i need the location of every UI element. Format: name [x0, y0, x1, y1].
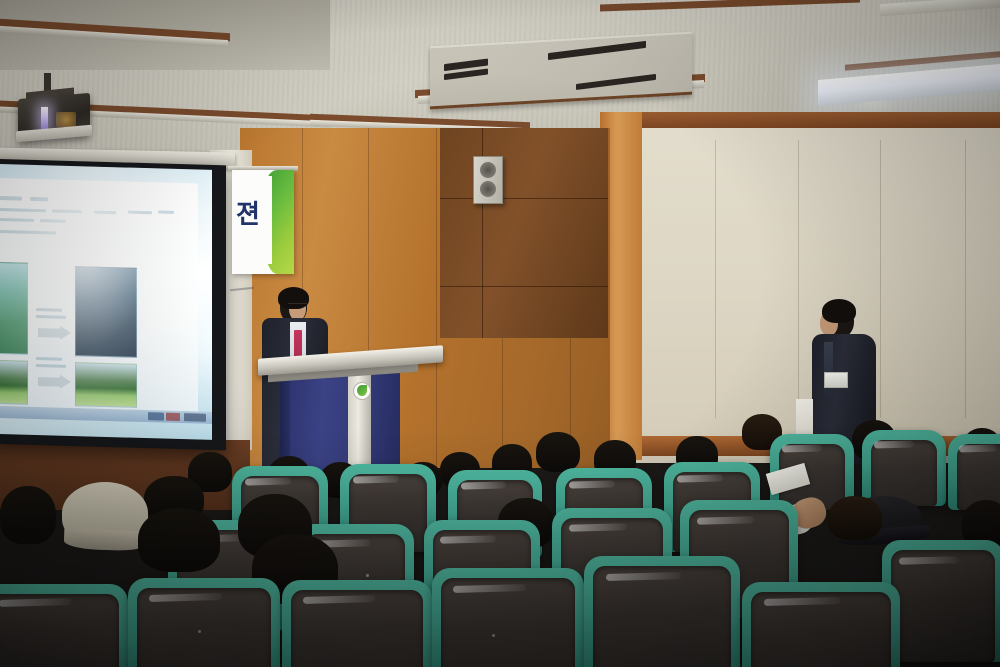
beige-cap-brim: [64, 529, 149, 552]
speaker-cone-lower: [480, 181, 496, 197]
dark-wood-panel: [440, 128, 608, 338]
leaf-icon: [357, 385, 367, 396]
seat-gloss: [440, 535, 496, 543]
glasses-icon: [288, 303, 307, 309]
slide-text-line: [0, 196, 22, 201]
audience-head: [0, 486, 56, 544]
auditorium-seat[interactable]: [742, 582, 900, 667]
taskbar-clock: [184, 413, 206, 422]
slide-text-line: [94, 211, 116, 215]
taskbar-item[interactable]: [166, 413, 180, 421]
seat-gloss: [245, 477, 291, 485]
auditorium-seat[interactable]: [282, 580, 432, 667]
wall-panel-seam: [798, 140, 799, 418]
wood-panel-seam: [436, 128, 437, 468]
audience-head: [536, 432, 580, 472]
slide-image-field-left: [0, 360, 28, 405]
name-badge: [824, 372, 848, 388]
projection-screen: [0, 159, 226, 451]
podium-body: [290, 372, 400, 474]
auditorium-seat[interactable]: [948, 434, 1000, 510]
seat-gloss: [959, 444, 998, 452]
slide-image-aerial-dark: [75, 266, 137, 358]
seat-speck: [492, 634, 495, 637]
seat-speck: [198, 630, 201, 633]
projection-screen-surface: [0, 164, 212, 440]
seat-gloss: [782, 444, 822, 452]
seat-speck: [366, 574, 369, 577]
seat-back-cushion: [891, 550, 995, 662]
slide-image-field-right: [75, 362, 137, 408]
audience-head: [138, 508, 220, 572]
wall-top-trim-right: [620, 112, 1000, 128]
projector-vent: [56, 112, 76, 127]
wall-panel-seam: [715, 140, 716, 418]
auditorium-seat[interactable]: [862, 430, 946, 506]
seat-back-cushion: [593, 566, 731, 667]
seat-gloss: [677, 474, 723, 482]
seat-gloss: [569, 480, 615, 488]
auditorium-seat[interactable]: [432, 568, 584, 667]
ac-slot-left-2: [444, 69, 488, 81]
seat-gloss: [874, 440, 914, 448]
dark-panel-grid-line: [440, 198, 608, 199]
slide-image-aerial-green: [0, 262, 28, 355]
auditorium-seat[interactable]: [0, 584, 128, 667]
ac-slot-right: [548, 41, 646, 60]
banner-text: 젼: [236, 202, 260, 228]
taskbar-item[interactable]: [148, 412, 164, 420]
speaker-cone-upper: [480, 162, 496, 178]
presentation-slide: [0, 164, 212, 440]
slide-text-line: [158, 210, 174, 213]
podium-emblem-icon: [353, 382, 371, 400]
dark-panel-grid-line: [440, 286, 608, 287]
slide-arrow-lower: [38, 377, 60, 387]
slide-text-line: [128, 211, 152, 215]
auditorium-presentation-scene: 젼: [0, 0, 1000, 667]
audience-head: [828, 496, 882, 540]
seat-gloss: [696, 516, 753, 524]
standing-attendee-hair: [822, 299, 856, 323]
projector-lens-icon: [41, 107, 48, 129]
slide-arrow-lower-head: [60, 375, 71, 389]
loudspeaker-icon: [473, 156, 503, 204]
auditorium-seat[interactable]: [128, 578, 280, 667]
slide-arrow-upper-head: [60, 326, 71, 340]
wall-panel-seam: [965, 140, 966, 418]
wall-panel-seam: [880, 140, 881, 418]
auditorium-seat[interactable]: [584, 556, 740, 667]
ac-slot-right-2: [576, 74, 656, 90]
slide-arrow-upper: [38, 328, 60, 338]
slide-text-line: [30, 197, 48, 202]
hanging-banner: 젼: [232, 170, 294, 274]
